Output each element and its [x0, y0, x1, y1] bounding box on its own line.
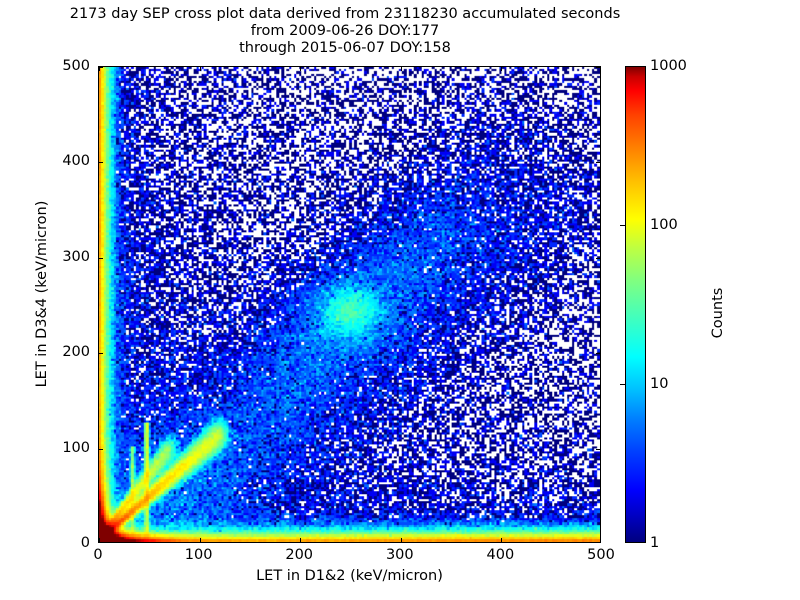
y-tick-mark — [99, 258, 103, 259]
colorbar-tick-label: 1000 — [650, 58, 687, 74]
x-tick-mark — [501, 67, 502, 71]
y-tick-label: 500 — [30, 58, 90, 74]
chart-title: 2173 day SEP cross plot data derived fro… — [0, 6, 690, 57]
x-axis-label: LET in D1&2 (keV/micron) — [98, 568, 601, 584]
y-tick-mark — [99, 353, 103, 354]
y-tick-mark — [596, 67, 600, 68]
colorbar-tick-mark — [620, 225, 625, 226]
x-tick-label: 200 — [285, 547, 313, 563]
y-axis-label: LET in D3&4 (keV/micron) — [34, 164, 50, 424]
y-tick-label: 0 — [30, 535, 90, 551]
x-tick-label: 300 — [386, 547, 414, 563]
title-line-3: through 2015-06-07 DOY:158 — [0, 40, 690, 57]
y-tick-label: 100 — [30, 440, 90, 456]
y-tick-mark — [596, 353, 600, 354]
x-tick-label: 0 — [93, 547, 102, 563]
colorbar-tick-label: 10 — [650, 376, 668, 392]
x-tick-mark — [200, 538, 201, 542]
title-line-1: 2173 day SEP cross plot data derived fro… — [0, 6, 690, 23]
y-tick-mark — [99, 67, 103, 68]
y-tick-mark — [596, 258, 600, 259]
x-tick-mark — [300, 538, 301, 542]
x-tick-label: 500 — [587, 547, 615, 563]
x-tick-label: 100 — [185, 547, 213, 563]
title-line-2: from 2009-06-26 DOY:177 — [0, 23, 690, 40]
y-tick-mark — [99, 162, 103, 163]
x-tick-mark — [99, 538, 100, 542]
colorbar — [625, 66, 646, 543]
density-scatter-plot — [99, 67, 600, 542]
colorbar-tick-mark — [620, 384, 625, 385]
figure-canvas: 2173 day SEP cross plot data derived fro… — [0, 0, 800, 600]
x-tick-mark — [200, 67, 201, 71]
x-tick-label: 400 — [487, 547, 515, 563]
x-tick-mark — [300, 67, 301, 71]
colorbar-label: Counts — [710, 243, 726, 383]
colorbar-tick-label: 1 — [650, 535, 659, 551]
plot-axes — [98, 66, 601, 543]
x-tick-mark — [401, 67, 402, 71]
y-tick-mark — [596, 449, 600, 450]
x-tick-mark — [501, 538, 502, 542]
y-tick-mark — [596, 162, 600, 163]
y-tick-mark — [99, 449, 103, 450]
x-tick-mark — [401, 538, 402, 542]
colorbar-tick-label: 100 — [650, 217, 678, 233]
